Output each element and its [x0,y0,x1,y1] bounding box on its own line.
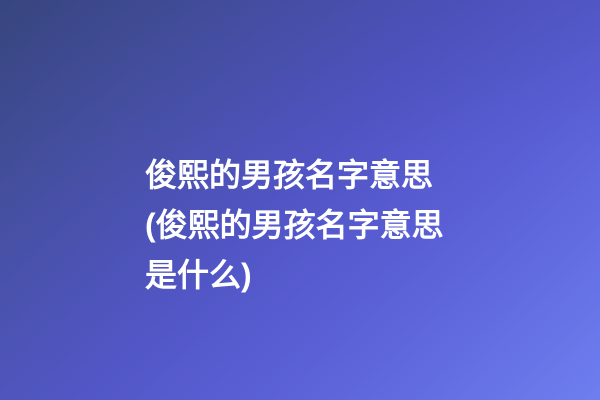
banner-card: 俊熙的男孩名字意思(俊熙的男孩名字意思是什么) [0,0,600,400]
title-block: 俊熙的男孩名字意思(俊熙的男孩名字意思是什么) [145,150,475,300]
page-title: 俊熙的男孩名字意思(俊熙的男孩名字意思是什么) [145,150,475,300]
